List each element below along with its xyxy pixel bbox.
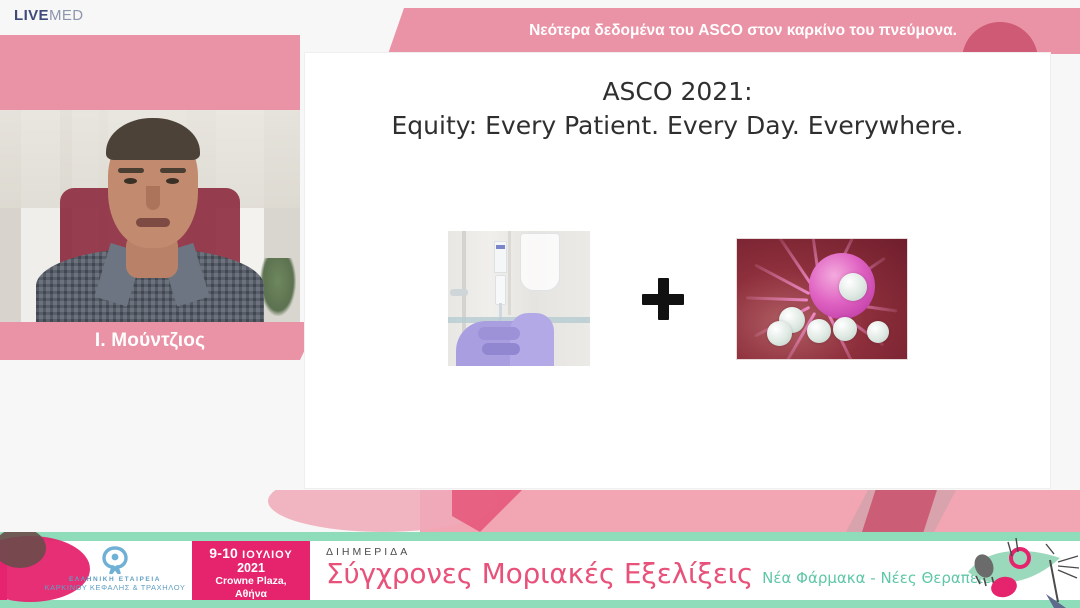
speaker-eyebrow-right [160, 168, 186, 173]
cell-tendril [745, 296, 807, 301]
congress-title-row: Σύγχρονες Μοριακές Εξελίξεις Νέα Φάρμακα… [326, 557, 1000, 590]
speaker-nose [146, 186, 160, 210]
event-date-month: ΙΟΥΛΙΟΥ [242, 549, 293, 561]
video-background-plant [260, 258, 296, 316]
society-name-line-1: ΕΛΛΗΝΙΚΗ ΕΤΑΙΡΕΙΑ [69, 576, 161, 583]
iv-fluid-bag [520, 233, 560, 291]
gloved-hand-right [510, 313, 554, 366]
decorative-band [0, 490, 1080, 532]
awareness-ribbon-icon [100, 546, 130, 574]
slide-figure-row [305, 231, 1050, 366]
cancer-cell-image [736, 238, 908, 360]
event-venue-name: Crowne Plaza, [192, 575, 310, 588]
speaker-mouth [136, 218, 170, 227]
presentation-title: Νεότερα δεδομένα του ASCO στον καρκίνο τ… [511, 22, 957, 40]
webinar-player-screen: LIVEMED Νεότερα δεδομένα του ASCO στον κ… [0, 0, 1080, 608]
immune-cell [833, 317, 857, 341]
gloved-finger-1 [478, 327, 520, 340]
webcam-top-accent-strip [0, 35, 300, 110]
iv-infusion-image [448, 231, 590, 366]
event-venue-city: Αθήνα [192, 588, 310, 601]
event-venue: Crowne Plaza, Αθήνα [192, 575, 310, 601]
event-year: 2021 [192, 561, 310, 575]
congress-title: Σύγχρονες Μοριακές Εξελίξεις [326, 557, 753, 590]
band-pink-stripe [420, 490, 1080, 532]
presentation-title-banner: Νεότερα δεδομένα του ASCO στον καρκίνο τ… [388, 8, 1080, 54]
speaker-video-feed[interactable] [0, 110, 300, 322]
congress-title-block: ΔΙΗΜΕΡΙΔΑ Σύγχρονες Μοριακές Εξελίξεις Ν… [326, 546, 1000, 590]
iv-bag-label-mark [496, 245, 505, 249]
footer-top-green-stripe [0, 532, 1080, 541]
slide-title-block: ASCO 2021: Equity: Every Patient. Every … [305, 75, 1050, 143]
brand-live-text: LIVE [14, 7, 49, 24]
iv-drip-chamber [495, 275, 506, 305]
society-logo: ΕΛΛΗΝΙΚΗ ΕΤΑΙΡΕΙΑ ΚΑΡΚΙΝΟΥ ΚΕΦΑΛΗΣ & ΤΡΑ… [40, 546, 190, 598]
gloved-finger-2 [482, 343, 520, 355]
slide-title-line-2: Equity: Every Patient. Every Day. Everyw… [305, 109, 1050, 143]
presentation-slide[interactable]: ASCO 2021: Equity: Every Patient. Every … [305, 53, 1050, 488]
speaker-webcam-panel[interactable]: Ι. Μούντζιος [0, 35, 300, 350]
event-date-block: 9-10 ΙΟΥΛΙΟΥ 2021 Crowne Plaza, Αθήνα [192, 541, 310, 600]
event-date-days: 9-10 [209, 545, 238, 561]
brand-med-text: MED [49, 7, 84, 24]
immune-cell [839, 273, 867, 301]
livemed-logo[interactable]: LIVEMED [14, 7, 84, 24]
banner-circle-decoration [962, 22, 1038, 54]
iv-photo-door-handle [450, 289, 468, 296]
speaker-eye-right [166, 178, 179, 184]
society-name-line-2: ΚΑΡΚΙΝΟΥ ΚΕΦΑΛΗΣ & ΤΡΑΧΗΛΟΥ [44, 583, 185, 592]
immune-cell [867, 321, 889, 343]
iv-photo-door-edge-2 [508, 231, 511, 315]
abstract-miro-illustration [950, 532, 1080, 608]
immune-cell [767, 321, 792, 346]
speaker-name: Ι. Μούντζιος [95, 330, 205, 352]
conference-footer-bar: ΕΛΛΗΝΙΚΗ ΕΤΑΙΡΕΙΑ ΚΑΡΚΙΝΟΥ ΚΕΦΑΛΗΣ & ΤΡΑ… [0, 532, 1080, 608]
speaker-eyebrow-left [118, 168, 144, 173]
immune-cell [807, 319, 831, 343]
speaker-name-bar: Ι. Μούντζιος [0, 322, 300, 360]
footer-bottom-green-stripe [0, 600, 1080, 608]
speaker-eye-left [124, 178, 137, 184]
slide-title-line-1: ASCO 2021: [305, 75, 1050, 109]
event-date-days-month: 9-10 ΙΟΥΛΙΟΥ [192, 545, 310, 561]
plus-icon [642, 278, 684, 320]
